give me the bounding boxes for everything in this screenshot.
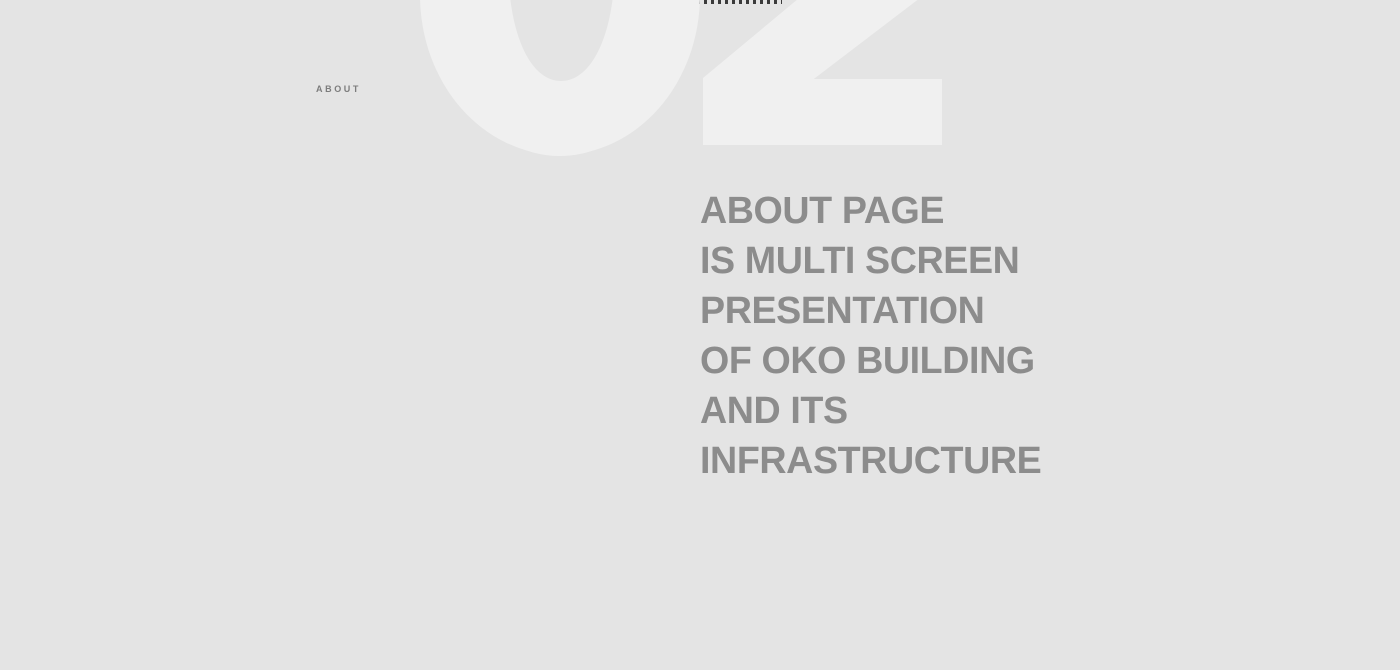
headline-line-5: AND ITS bbox=[700, 386, 1334, 436]
page-title: ABOUT PAGE IS MULTI SCREEN PRESENTATION … bbox=[700, 186, 1340, 486]
section-label: ABOUT bbox=[316, 82, 361, 96]
top-dashed-rule bbox=[620, 0, 782, 4]
headline-line-3: PRESENTATION bbox=[700, 286, 1334, 336]
numeral-zero-bowl bbox=[420, 0, 700, 156]
headline-line-2: IS MULTI SCREEN bbox=[700, 236, 1334, 286]
numeral-two-base-bar bbox=[703, 79, 942, 145]
numeral-zero-glyph bbox=[420, 0, 700, 155]
headline-line-4: OF OKO BUILDING bbox=[700, 336, 1334, 386]
numeral-zero-counter bbox=[508, 0, 615, 81]
headline-line-6: INFRASTRUCTURE bbox=[700, 436, 1334, 486]
about-section: ABOUT ABOUT PAGE IS MULTI SCREEN PRESENT… bbox=[0, 0, 1400, 670]
numeral-two-diagonal bbox=[703, 0, 941, 120]
headline-line-1: ABOUT PAGE bbox=[700, 186, 1334, 236]
